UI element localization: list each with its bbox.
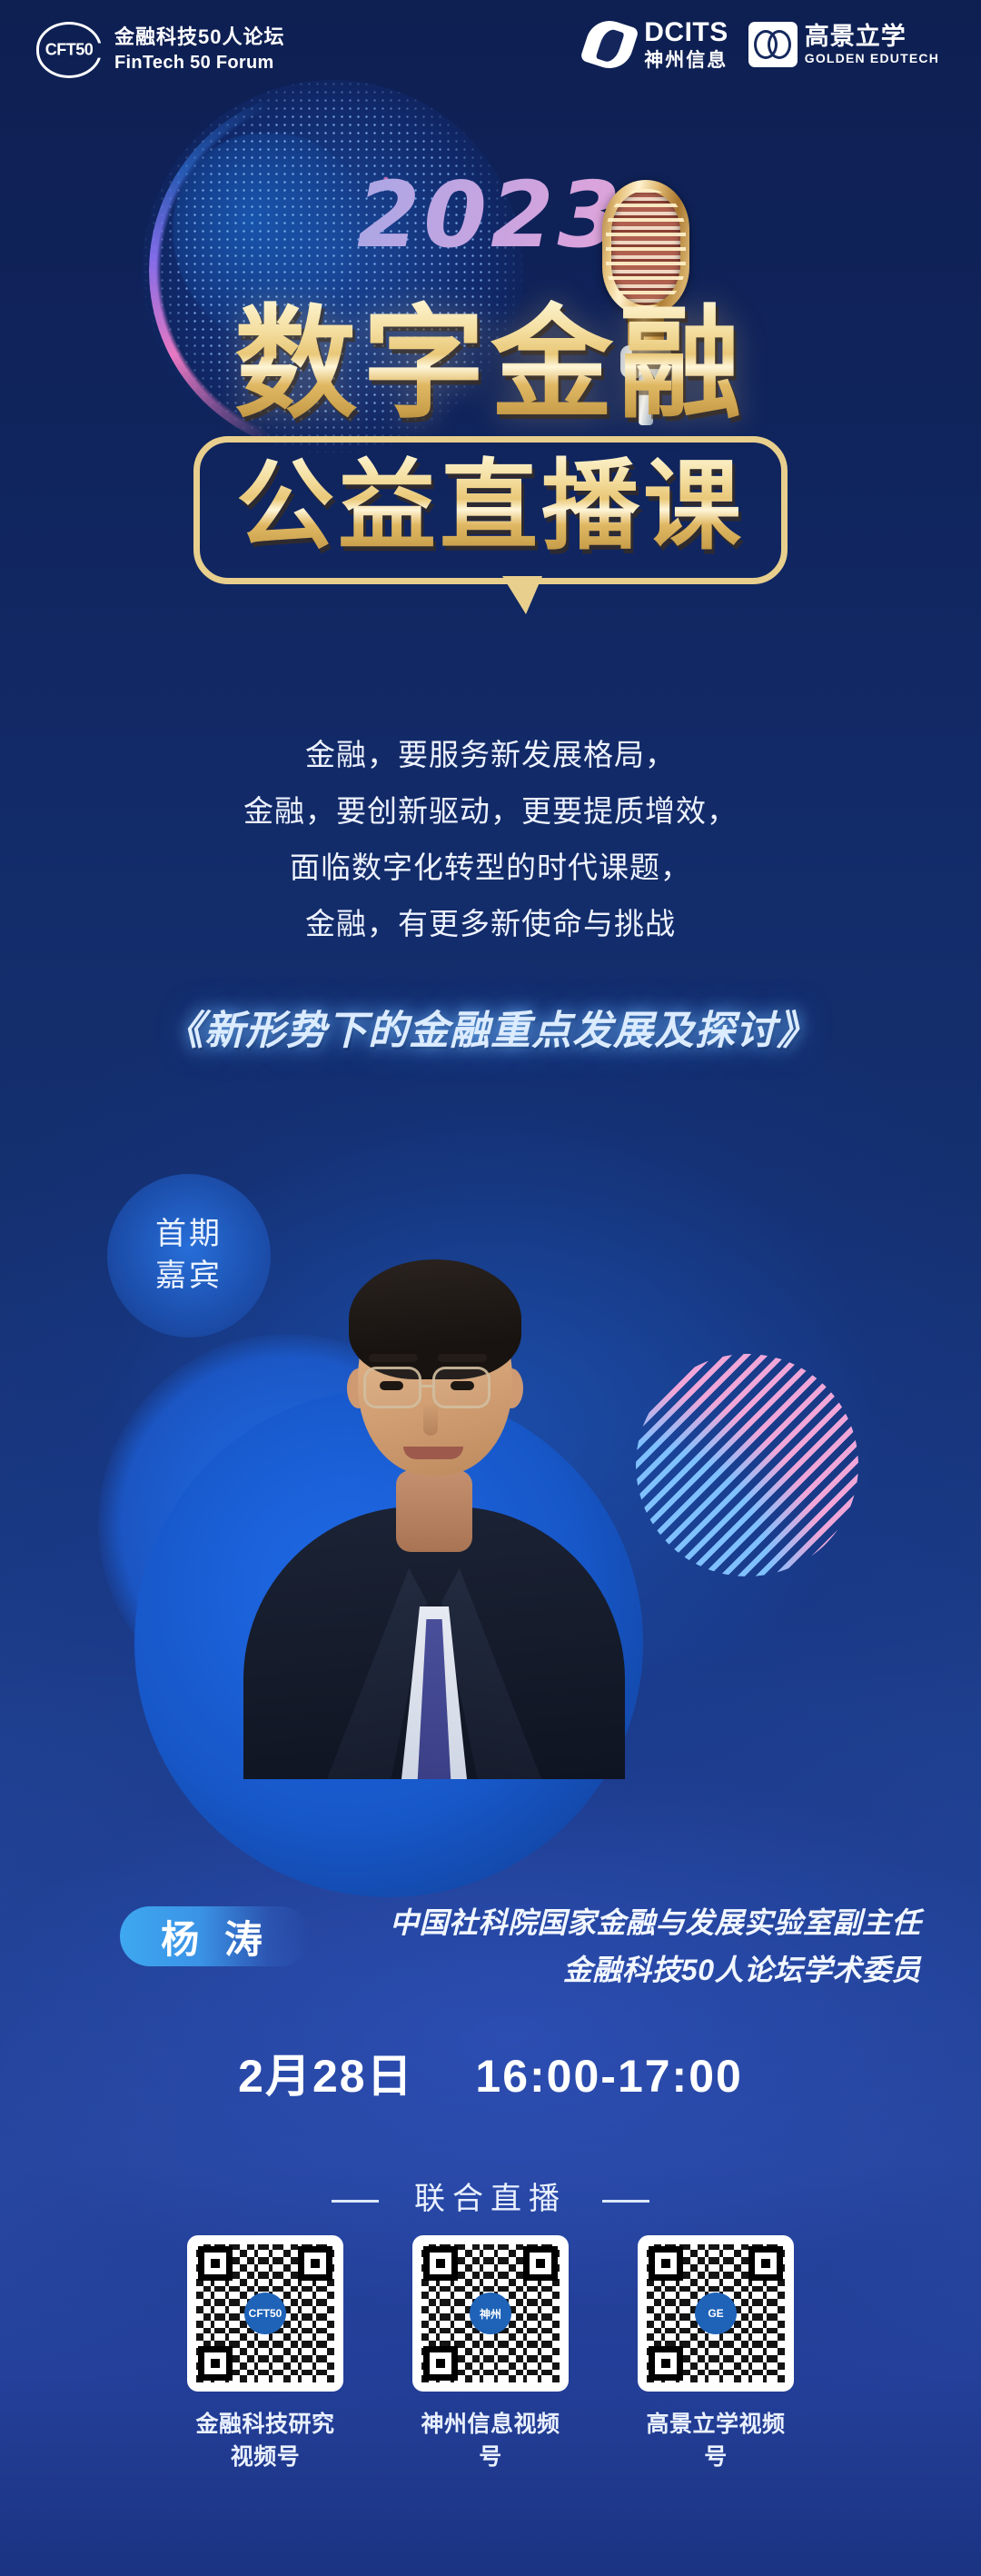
description-line: 金融，要创新驱动，更要提质增效， (0, 783, 981, 840)
year-label: 2023 (0, 162, 981, 268)
golden-edutech-mark-icon (748, 22, 798, 67)
description-block: 金融，要服务新发展格局， 金融，要创新驱动，更要提质增效， 面临数字化转型的时代… (0, 727, 981, 952)
qr-code-image[interactable]: 神州 (412, 2235, 569, 2392)
joint-broadcast-label: 联合直播 (414, 2182, 567, 2216)
main-title: 数字金融 公益直播课 (0, 300, 981, 584)
dcits-cn-name: 神州信息 (644, 49, 728, 72)
schedule-time: 16:00-17:00 (475, 2051, 742, 2102)
speaker-name-row: 杨 涛 中国社科院国家金融与发展实验室副主任 金融科技50人论坛学术委员 (0, 1899, 981, 2017)
joint-broadcast-heading: 联合直播 (0, 2173, 981, 2218)
speaker-titles: 中国社科院国家金融与发展实验室副主任 金融科技50人论坛学术委员 (390, 1899, 921, 1994)
description-line: 金融，要服务新发展格局， (0, 727, 981, 783)
golden-cn-name: 高景立学 (805, 22, 939, 51)
qr-code-image[interactable]: CFT50 (187, 2235, 343, 2392)
description-line: 面临数字化转型的时代课题， (0, 840, 981, 896)
qr-item: 神州 神州信息视频号 (412, 2235, 569, 2472)
speaker-title-line: 金融科技50人论坛学术委员 (390, 1946, 921, 1994)
qr-code-image[interactable]: GE (638, 2235, 794, 2392)
divider-right (602, 2200, 649, 2203)
cft50-en-name: FinTech 50 Forum (114, 51, 284, 76)
qr-item: CFT50 金融科技研究视频号 (187, 2235, 343, 2472)
cft50-cn-name: 金融科技50人论坛 (114, 24, 284, 51)
qr-item: GE 高景立学视频号 (638, 2235, 794, 2472)
session-topic: 《新形势下的金融重点发展及探讨》 (0, 998, 981, 1056)
cft50-mark-icon: CFT50 (36, 22, 102, 78)
title-line-2: 公益直播课 (236, 453, 745, 562)
speaker-name-badge: 杨 涛 (120, 1906, 311, 1966)
cft50-mark-label: CFT50 (36, 41, 102, 60)
speaker-portrait-section: 首期 嘉宾 (0, 1127, 981, 1908)
description-line: 金融，有更多新使命与挑战 (0, 896, 981, 952)
title-speech-bubble: 公益直播课 (193, 436, 788, 584)
qr-code-row: CFT50 金融科技研究视频号 神州 神州信息视频号 GE 高景立学视频号 (0, 2235, 981, 2472)
partner-logos: DCITS 神州信息 高景立学 GOLDEN EDUTECH (584, 16, 939, 72)
divider-left (332, 2200, 379, 2203)
dcits-en-name: DCITS (644, 16, 728, 49)
speaker-photo (243, 1143, 625, 1779)
cft50-logo: CFT50 金融科技50人论坛 FinTech 50 Forum (36, 22, 284, 78)
schedule-row: 2月28日 16:00-17:00 (0, 2040, 981, 2105)
golden-en-name: GOLDEN EDUTECH (805, 51, 939, 66)
guest-badge-line-2: 嘉宾 (155, 1256, 223, 1298)
speaker-title-line: 中国社科院国家金融与发展实验室副主任 (390, 1899, 921, 1946)
qr-code-label: 金融科技研究视频号 (187, 2406, 343, 2472)
guest-badge-line-1: 首期 (155, 1214, 223, 1256)
schedule-date: 2月28日 (238, 2051, 413, 2102)
qr-center-logo: 神州 (470, 2293, 511, 2334)
qr-center-logo: GE (695, 2293, 737, 2334)
dcits-logo: DCITS 神州信息 (584, 16, 728, 72)
dcits-swirl-icon (584, 19, 635, 70)
title-line-1: 数字金融 (0, 300, 981, 429)
qr-code-label: 高景立学视频号 (638, 2406, 794, 2472)
header-bar: CFT50 金融科技50人论坛 FinTech 50 Forum DCITS 神… (0, 0, 981, 102)
striped-circle-pink-overlay (636, 1354, 858, 1576)
golden-edutech-logo: 高景立学 GOLDEN EDUTECH (748, 22, 939, 67)
qr-center-logo: CFT50 (244, 2293, 286, 2334)
qr-code-label: 神州信息视频号 (412, 2406, 569, 2472)
